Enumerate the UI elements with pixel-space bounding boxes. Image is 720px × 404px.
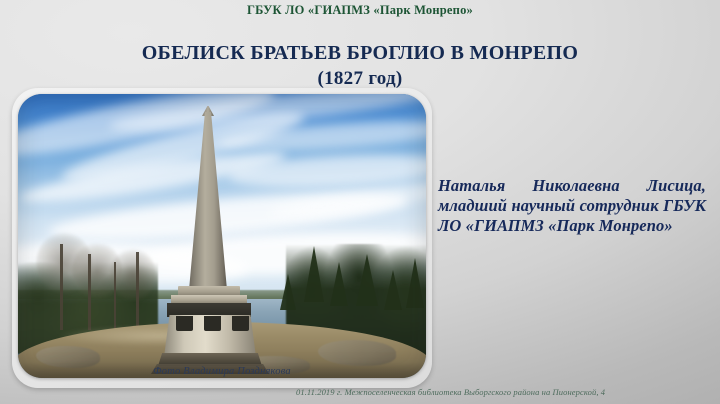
page-title: ОБЕЛИСК БРАТЬЕВ БРОГЛИО В МОНРЕПО (1827 …: [0, 40, 720, 92]
pedestal-recess: [204, 316, 221, 331]
presentation-slide: ГБУК ЛО «ГИАПМЗ «Парк Монрепо» ОБЕЛИСК Б…: [0, 0, 720, 404]
title-line-1: ОБЕЛИСК БРАТЬЕВ БРОГЛИО В МОНРЕПО: [142, 42, 579, 64]
bare-tree-trunk: [114, 262, 116, 330]
conifer-tree: [280, 274, 296, 310]
bare-tree-trunk: [136, 252, 139, 332]
conifer-tree: [304, 246, 324, 302]
conifer-tree: [406, 258, 424, 308]
speaker-info-text: Наталья Николаевна Лисица, младший научн…: [438, 176, 706, 236]
obelisk-photo: [18, 94, 426, 378]
pedestal-recess: [232, 316, 249, 331]
bare-tree-crown: [110, 248, 156, 302]
pedestal-recess: [176, 316, 193, 331]
speaker-info: Наталья Николаевна Лисица, младший научн…: [438, 176, 706, 236]
photo-credit-caption: Фото Владимира Позднякова: [18, 366, 426, 377]
conifer-tree: [384, 270, 402, 310]
event-footer: 01.11.2019 г. Межпоселенческая библиотек…: [296, 387, 716, 397]
bare-tree-trunk: [88, 254, 91, 330]
organization-header: ГБУК ЛО «ГИАПМЗ «Парк Монрепо»: [0, 3, 720, 18]
obelisk-plinth: [167, 303, 251, 317]
conifer-tree: [356, 254, 378, 306]
conifer-tree: [330, 262, 348, 306]
bare-tree-trunk: [60, 244, 63, 330]
